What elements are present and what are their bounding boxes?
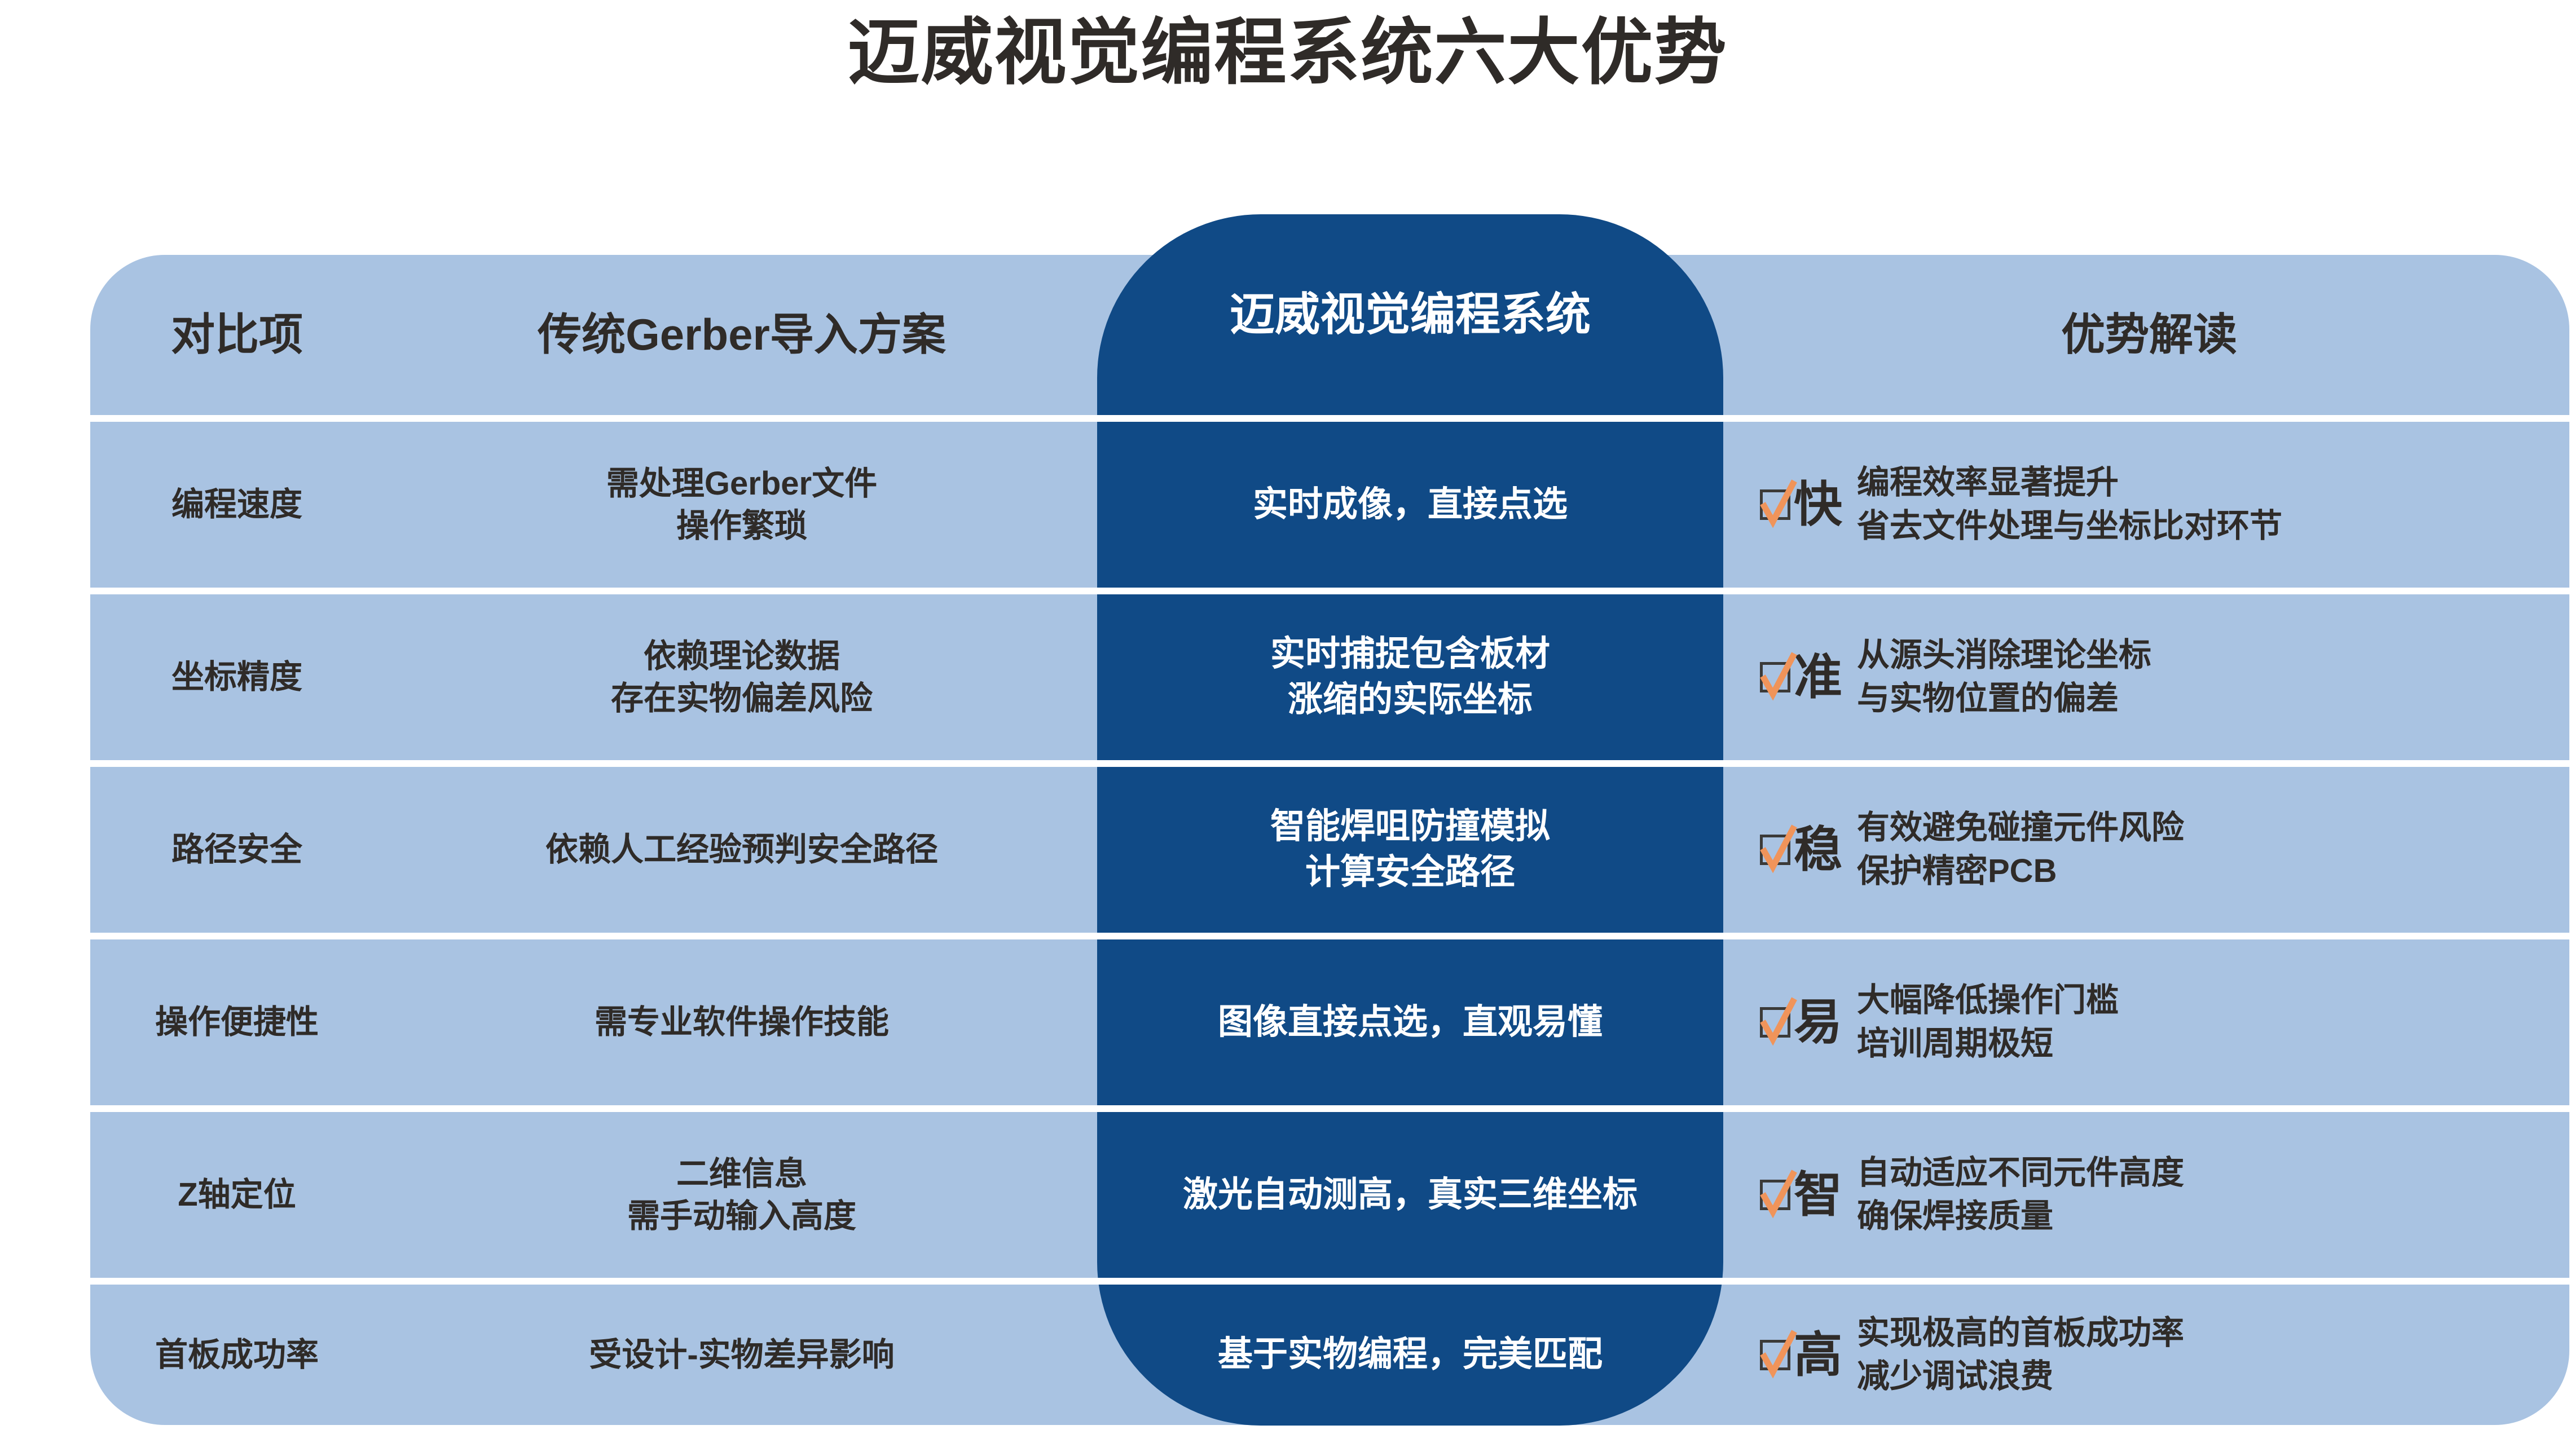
cell-maiwei-5: 激光自动测高，真实三维坐标	[1097, 1112, 1723, 1278]
cell-traditional-6: 受设计-实物差异影响	[395, 1285, 1089, 1425]
benefit-keyword-group-2: 准	[1760, 653, 1842, 701]
checkbox-checked-icon	[1760, 489, 1790, 520]
benefit-keyword-group-4: 易	[1760, 998, 1842, 1047]
cell-traditional-2: 依赖理论数据 存在实物偏差风险	[395, 594, 1089, 760]
benefit-keyword-group-1: 快	[1760, 480, 1842, 529]
benefit-keyword-5: 智	[1794, 1171, 1842, 1219]
benefit-keyword-6: 高	[1794, 1331, 1842, 1379]
page-title: 迈威视觉编程系统六大优势	[0, 5, 2575, 102]
benefit-keyword-4: 易	[1794, 998, 1842, 1047]
cell-item-5: Z轴定位	[90, 1112, 384, 1278]
cell-benefit-5: 智 自动适应不同元件高度 确保焊接质量	[1743, 1112, 2555, 1278]
cell-item-1: 编程速度	[90, 422, 384, 588]
infographic-page: 迈威视觉编程系统六大优势 对比项 传统Gerber导入方案 迈威视觉编程系统 优…	[0, 0, 2575, 1456]
cell-item-3: 路径安全	[90, 767, 384, 933]
checkbox-checked-icon	[1760, 662, 1790, 692]
cell-traditional-1: 需处理Gerber文件 操作繁琐	[395, 422, 1089, 588]
cell-traditional-3: 依赖人工经验预判安全路径	[395, 767, 1089, 933]
benefit-detail-2: 从源头消除理论坐标 与实物位置的偏差	[1857, 634, 2555, 720]
header-benefit: 优势解读	[1743, 255, 2555, 415]
cell-benefit-1: 快 编程效率显著提升 省去文件处理与坐标比对环节	[1743, 422, 2555, 588]
cell-benefit-4: 易 大幅降低操作门槛 培训周期极短	[1743, 939, 2555, 1105]
checkbox-checked-icon	[1760, 1340, 1790, 1370]
benefit-keyword-group-3: 稳	[1760, 826, 1842, 874]
cell-maiwei-3: 智能焊咀防撞模拟 计算安全路径	[1097, 767, 1723, 933]
cell-maiwei-2: 实时捕捉包含板材 涨缩的实际坐标	[1097, 594, 1723, 760]
cell-benefit-6: 高 实现极高的首板成功率 减少调试浪费	[1743, 1285, 2555, 1425]
benefit-detail-6: 实现极高的首板成功率 减少调试浪费	[1857, 1312, 2555, 1398]
checkbox-checked-icon	[1760, 1007, 1790, 1038]
cell-item-4: 操作便捷性	[90, 939, 384, 1105]
cell-item-6: 首板成功率	[90, 1285, 384, 1425]
header-maiwei: 迈威视觉编程系统	[1097, 214, 1723, 415]
benefit-detail-5: 自动适应不同元件高度 确保焊接质量	[1857, 1151, 2555, 1238]
checkbox-checked-icon	[1760, 835, 1790, 865]
cell-maiwei-4: 图像直接点选，直观易懂	[1097, 939, 1723, 1105]
header-traditional: 传统Gerber导入方案	[395, 255, 1089, 415]
cell-benefit-3: 稳 有效避免碰撞元件风险 保护精密PCB	[1743, 767, 2555, 933]
cell-traditional-4: 需专业软件操作技能	[395, 939, 1089, 1105]
benefit-keyword-3: 稳	[1794, 826, 1842, 874]
checkbox-checked-icon	[1760, 1180, 1790, 1210]
cell-item-2: 坐标精度	[90, 594, 384, 760]
benefit-detail-4: 大幅降低操作门槛 培训周期极短	[1857, 979, 2555, 1065]
benefit-keyword-group-5: 智	[1760, 1171, 1842, 1219]
benefit-detail-3: 有效避免碰撞元件风险 保护精密PCB	[1857, 806, 2555, 893]
benefit-keyword-1: 快	[1794, 480, 1842, 529]
header-item: 对比项	[90, 255, 384, 415]
cell-maiwei-6: 基于实物编程，完美匹配	[1097, 1285, 1723, 1425]
cell-traditional-5: 二维信息 需手动输入高度	[395, 1112, 1089, 1278]
benefit-keyword-2: 准	[1794, 653, 1842, 701]
cell-benefit-2: 准 从源头消除理论坐标 与实物位置的偏差	[1743, 594, 2555, 760]
cell-maiwei-1: 实时成像，直接点选	[1097, 422, 1723, 588]
benefit-detail-1: 编程效率显著提升 省去文件处理与坐标比对环节	[1857, 461, 2555, 548]
benefit-keyword-group-6: 高	[1760, 1331, 1842, 1379]
